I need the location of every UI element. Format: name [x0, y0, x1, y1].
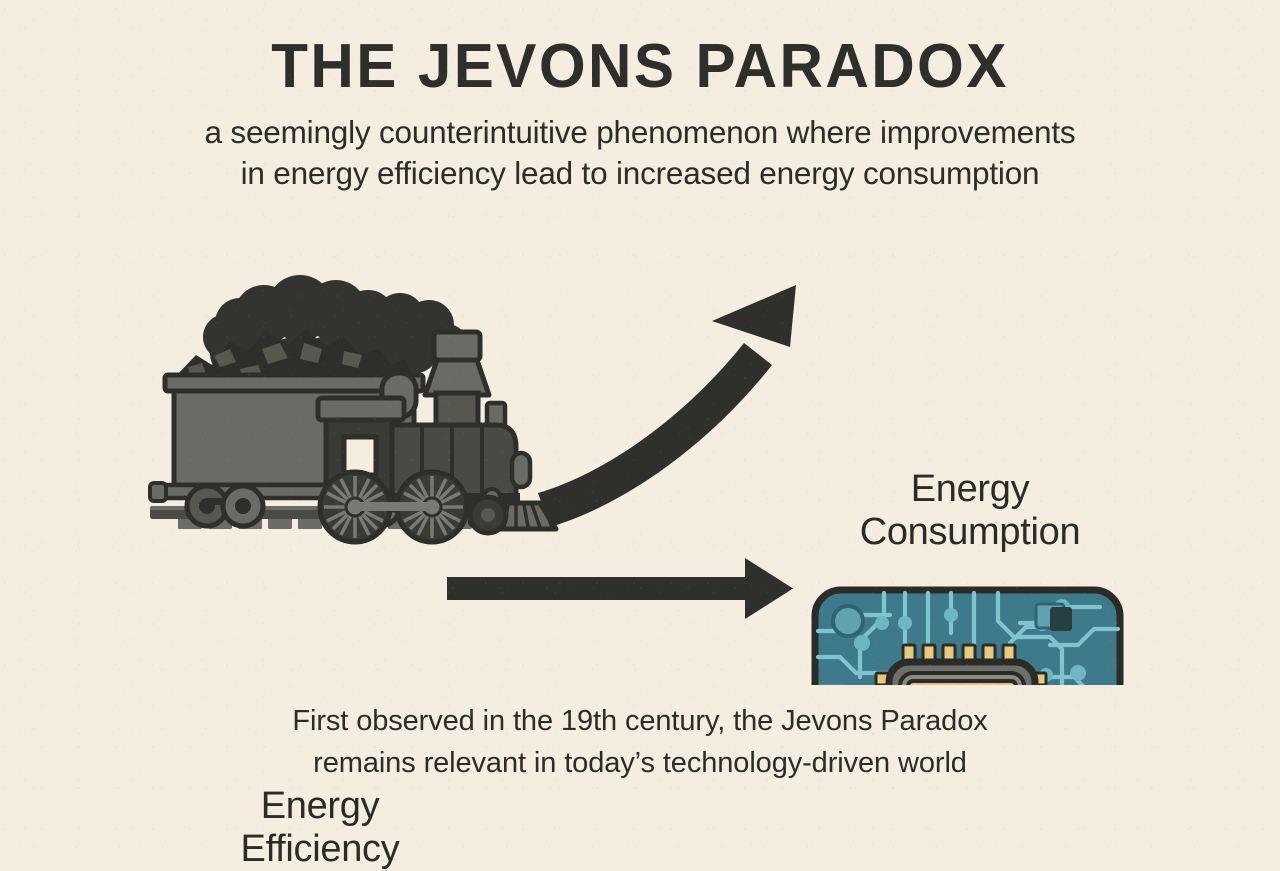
- page-title: THE JEVONS PARADOX: [19, 0, 1261, 98]
- straight-right-arrow-icon: [447, 558, 793, 619]
- subtitle: a seemingly counterintuitive phenomenon …: [80, 112, 1200, 194]
- diagram-illustration: Energy Consumption Energy Efficiency: [0, 225, 1280, 685]
- microchip-icon: [815, 590, 1120, 685]
- efficiency-line-2: Efficiency: [175, 828, 465, 871]
- curved-rising-arrow-icon: [538, 285, 796, 527]
- footer-line-1: First observed in the 19th century, the …: [0, 700, 1280, 742]
- diagram-canvas: [0, 225, 1280, 685]
- consumption-line-1: Energy: [810, 468, 1130, 511]
- footer-caption: First observed in the 19th century, the …: [0, 700, 1280, 784]
- header: THE JEVONS PARADOX a seemingly counterin…: [0, 0, 1280, 194]
- label-energy-consumption: Energy Consumption: [810, 468, 1130, 554]
- consumption-line-2: Consumption: [810, 511, 1130, 554]
- subtitle-line-1: a seemingly counterintuitive phenomenon …: [80, 112, 1200, 153]
- footer-line-2: remains relevant in today’s technology-d…: [0, 742, 1280, 784]
- subtitle-line-2: in energy efficiency lead to increased e…: [80, 153, 1200, 194]
- efficiency-line-1: Energy: [175, 785, 465, 828]
- infographic-root: THE JEVONS PARADOX a seemingly counterin…: [0, 0, 1280, 853]
- label-energy-efficiency: Energy Efficiency: [175, 785, 465, 871]
